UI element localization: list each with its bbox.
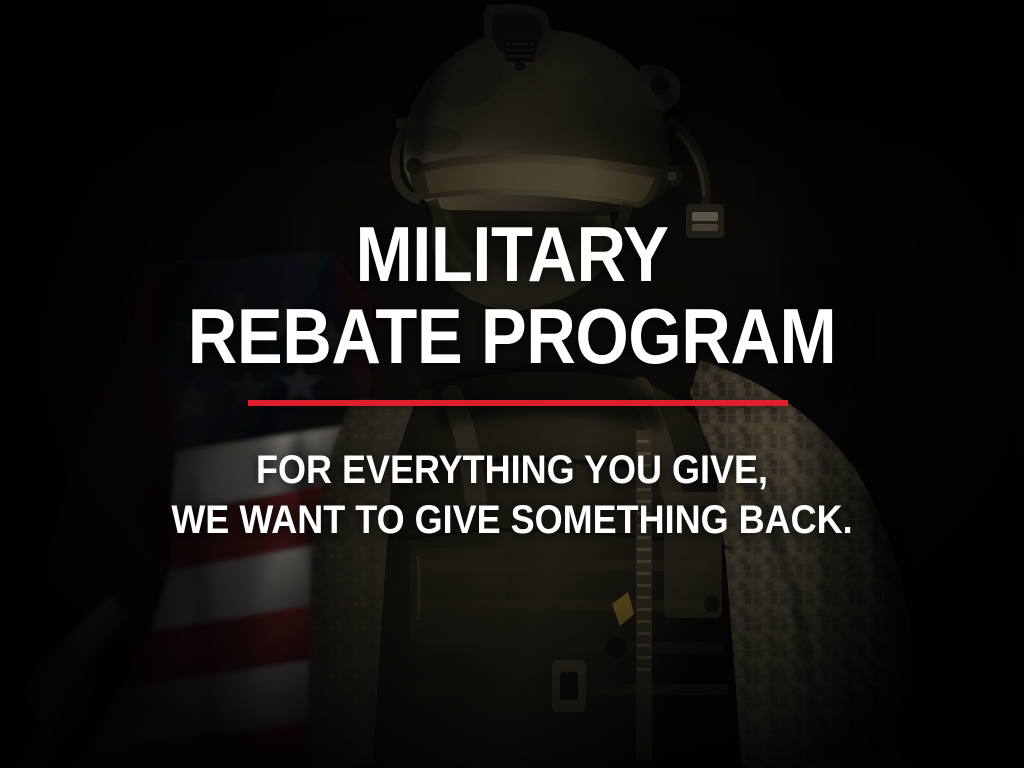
plate-carrier-vest bbox=[372, 363, 742, 768]
vest-buckle bbox=[552, 660, 586, 712]
soldier-scene-illustration bbox=[0, 0, 1024, 768]
military-rebate-banner: MILITARY REBATE PROGRAM FOR EVERYTHING Y… bbox=[0, 0, 1024, 768]
vest-center-zipper bbox=[636, 430, 652, 760]
chest-pouch-left bbox=[410, 548, 506, 644]
utility-pouch bbox=[664, 492, 722, 618]
background-photo bbox=[0, 0, 1024, 768]
